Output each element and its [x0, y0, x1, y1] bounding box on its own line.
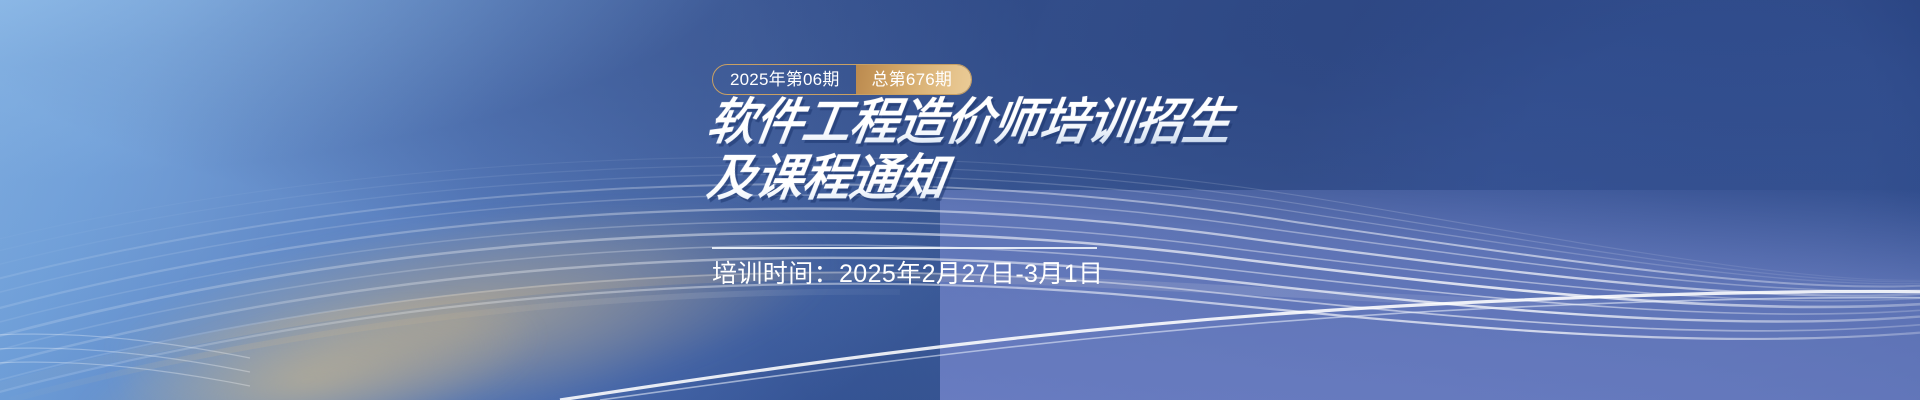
banner-title: 软件工程造价师培训招生 及课程通知: [708, 95, 1468, 205]
title-divider: [712, 247, 1097, 249]
banner-title-line-2: 及课程通知: [704, 151, 1442, 205]
training-time-label: 培训时间：2025年2月27日-3月1日: [712, 258, 1103, 291]
issue-badge: 2025年第06期 总第676期: [712, 64, 972, 95]
banner-content: 2025年第06期 总第676期 软件工程造价师培训招生 及课程通知 培训时间：…: [712, 0, 1472, 400]
banner-title-line-1: 软件工程造价师培训招生: [704, 95, 1442, 149]
total-issue-number-label: 总第676期: [856, 65, 972, 94]
promo-banner: 2025年第06期 总第676期 软件工程造价师培训招生 及课程通知 培训时间：…: [0, 0, 1920, 400]
issue-number-label: 2025年第06期: [713, 65, 856, 94]
